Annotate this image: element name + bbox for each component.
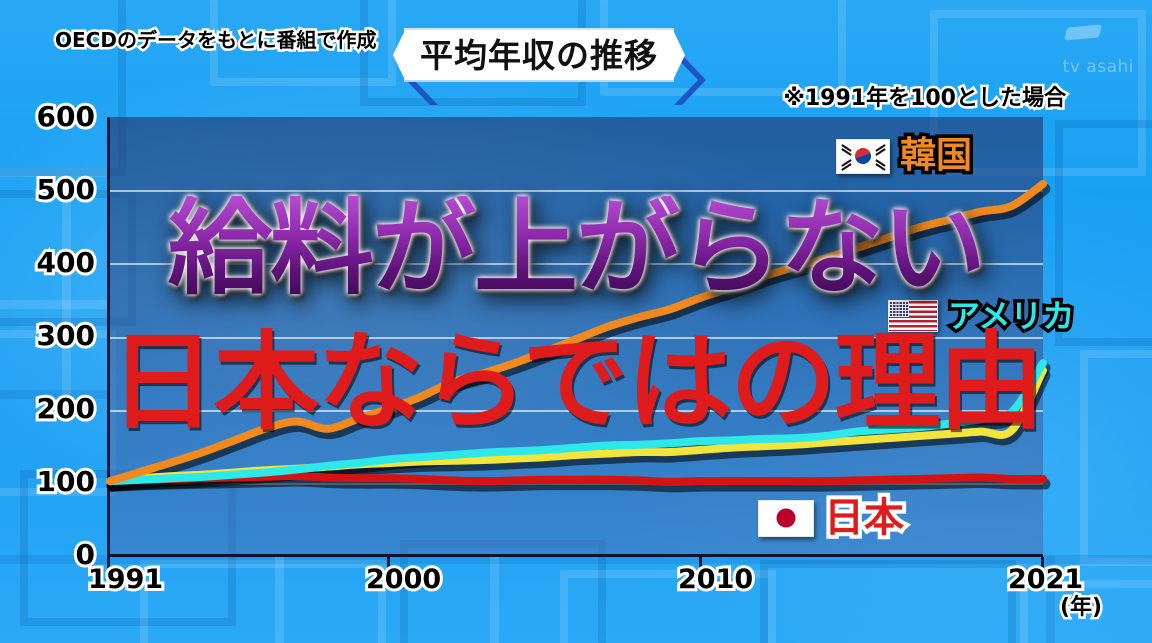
- y-tick-label: 300: [37, 322, 95, 350]
- chart-series-svg: [110, 117, 1043, 554]
- x-tick-label: 2000: [366, 566, 441, 593]
- series-line-group: [110, 184, 1043, 482]
- legend-item-korea: 韓国: [836, 138, 972, 174]
- tv-asahi-wordmark: tv asahi: [1022, 59, 1134, 76]
- tv-asahi-mark-icon: [1064, 25, 1102, 41]
- y-tick-label: 600: [37, 103, 95, 131]
- legend-label-usa: アメリカ: [948, 300, 1074, 332]
- broadcast-chart-screen: OECDのデータをもとに番組で作成 平均年収の推移 ※1991年を100とした場…: [0, 0, 1152, 643]
- chart-plot-area: [107, 117, 1043, 557]
- x-tick-label: 1991: [88, 566, 163, 593]
- y-tick-label: 200: [37, 395, 95, 423]
- bg-decor-bar: [275, 556, 284, 643]
- x-tick-label: 2010: [678, 566, 753, 593]
- bg-decor-rect: [140, 560, 386, 643]
- us-flag-icon: [888, 300, 938, 332]
- x-tick-label: 2021: [1008, 566, 1083, 593]
- y-tick-label: 400: [37, 249, 95, 277]
- tv-asahi-logo: tv asahi: [1022, 26, 1134, 76]
- title-banner: 平均年収の推移: [404, 30, 674, 80]
- bg-decor-bar: [0, 300, 108, 309]
- y-tick-label: 500: [37, 176, 95, 204]
- bg-decor-rect: [760, 560, 1016, 643]
- baseline-note: ※1991年を100とした場合: [783, 88, 1066, 110]
- kr-flag-icon: [836, 139, 890, 174]
- y-tick-label: 100: [37, 468, 95, 496]
- page-title: 平均年収の推移: [420, 39, 658, 72]
- bg-decor-rect: [1080, 350, 1152, 566]
- title-plate: 平均年収の推移: [404, 28, 674, 82]
- legend-label-japan: 日本: [824, 498, 904, 538]
- jp-flag-icon: [758, 500, 814, 537]
- bg-decor-bar: [490, 556, 499, 643]
- us-canton: [889, 301, 909, 317]
- legend-item-japan: 日本: [758, 498, 904, 538]
- jp-hinomaru: [777, 509, 796, 528]
- bg-decor-bar: [62, 180, 71, 395]
- x-axis-unit-label: (年): [1060, 597, 1102, 619]
- legend-label-korea: 韓国: [900, 138, 972, 174]
- legend-item-usa: アメリカ: [888, 300, 1074, 332]
- kr-taegeuk: [855, 148, 871, 164]
- source-credit: OECDのデータをもとに番組で作成: [55, 30, 377, 50]
